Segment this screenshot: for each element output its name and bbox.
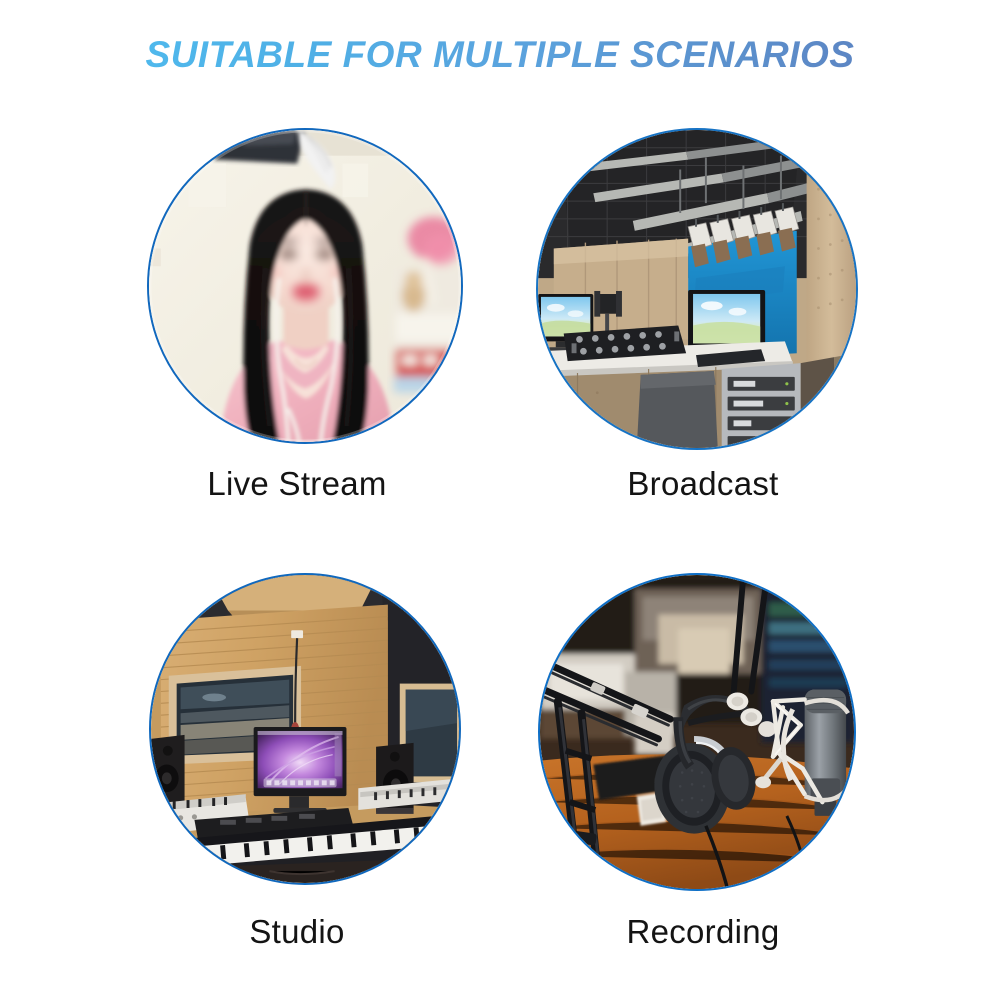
live-stream-circle-frame xyxy=(147,128,463,444)
scenario-label-live-stream: Live Stream xyxy=(87,465,507,503)
music-studio-photo xyxy=(151,575,459,883)
broadcast-circle-frame xyxy=(536,128,858,450)
scenario-card-recording[interactable]: Recording xyxy=(487,565,907,985)
scenario-card-broadcast[interactable]: Broadcast xyxy=(487,120,907,540)
recording-booth-photo xyxy=(540,575,854,889)
scenario-grid: Live Stream xyxy=(0,110,1000,1000)
scenario-card-studio[interactable]: Studio xyxy=(95,565,515,985)
page-title: SUITABLE FOR MULTIPLE SCENARIOS xyxy=(146,34,855,76)
live-stream-photo xyxy=(149,130,461,442)
scenario-card-live-stream[interactable]: Live Stream xyxy=(95,120,515,540)
page-header: SUITABLE FOR MULTIPLE SCENARIOS xyxy=(0,0,1000,110)
scenario-label-recording: Recording xyxy=(493,913,913,951)
scenario-label-broadcast: Broadcast xyxy=(493,465,913,503)
recording-circle-frame xyxy=(538,573,856,891)
scenario-label-studio: Studio xyxy=(87,913,507,951)
broadcast-studio-photo xyxy=(538,130,856,448)
studio-circle-frame xyxy=(149,573,461,885)
